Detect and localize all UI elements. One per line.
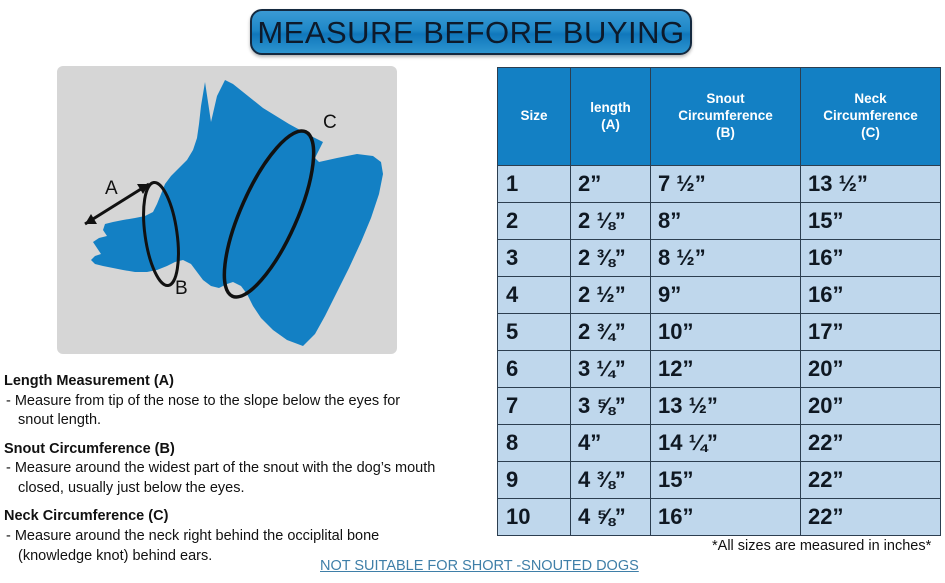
cell-neck: 20” bbox=[801, 388, 941, 425]
cell-snout: 14 ¼” bbox=[651, 425, 801, 462]
column-header-length: length (A) bbox=[571, 68, 651, 166]
cell-length: 4 ⅜” bbox=[571, 462, 651, 499]
table-row: 84”14 ¼”22” bbox=[498, 425, 941, 462]
column-header-neck-line3: (C) bbox=[861, 125, 880, 140]
cell-snout: 7 ½” bbox=[651, 166, 801, 203]
instruction-heading-snout: Snout Circumference (B) bbox=[4, 440, 489, 460]
cell-neck: 16” bbox=[801, 240, 941, 277]
cell-snout: 10” bbox=[651, 314, 801, 351]
dog-head-silhouette bbox=[91, 80, 383, 346]
dog-head-illustration: A B C bbox=[57, 66, 397, 354]
column-header-neck-line1: Neck bbox=[854, 91, 886, 106]
dog-head-diagram-panel: A B C bbox=[57, 66, 397, 354]
measurement-instructions: Length Measurement (A) - Measure from ti… bbox=[4, 372, 489, 575]
column-header-neck-line2: Circumference bbox=[823, 108, 918, 123]
cell-size: 6 bbox=[498, 351, 571, 388]
title-banner: MEASURE BEFORE BUYING bbox=[250, 9, 692, 55]
cell-length: 2 ⅜” bbox=[571, 240, 651, 277]
column-header-size: Size bbox=[498, 68, 571, 166]
cell-size: 8 bbox=[498, 425, 571, 462]
cell-neck: 16” bbox=[801, 277, 941, 314]
cell-length: 2 ⅛” bbox=[571, 203, 651, 240]
cell-neck: 13 ½” bbox=[801, 166, 941, 203]
label-b: B bbox=[175, 278, 188, 299]
table-header-row: Size length (A) Snout Circumference (B) … bbox=[498, 68, 941, 166]
cell-length: 2” bbox=[571, 166, 651, 203]
column-header-snout-line1: Snout bbox=[706, 91, 744, 106]
cell-size: 5 bbox=[498, 314, 571, 351]
cell-length: 2 ¾” bbox=[571, 314, 651, 351]
cell-snout: 8” bbox=[651, 203, 801, 240]
instruction-neck-line1: - Measure around the neck right behind t… bbox=[6, 528, 379, 544]
cell-neck: 22” bbox=[801, 462, 941, 499]
label-c: C bbox=[323, 112, 337, 133]
instruction-heading-neck: Neck Circumference (C) bbox=[4, 507, 489, 527]
cell-size: 10 bbox=[498, 499, 571, 536]
cell-snout: 13 ½” bbox=[651, 388, 801, 425]
cell-length: 3 ¼” bbox=[571, 351, 651, 388]
column-header-snout-line2: Circumference bbox=[678, 108, 773, 123]
cell-neck: 20” bbox=[801, 351, 941, 388]
instruction-snout-line1: - Measure around the widest part of the … bbox=[6, 460, 435, 476]
instruction-body-length: - Measure from tip of the nose to the sl… bbox=[4, 392, 489, 431]
cell-neck: 22” bbox=[801, 499, 941, 536]
instruction-length-line2: snout length. bbox=[6, 411, 489, 431]
instruction-group-snout: Snout Circumference (B) - Measure around… bbox=[4, 440, 489, 499]
cell-length: 4 ⅝” bbox=[571, 499, 651, 536]
column-header-length-line2: (A) bbox=[601, 117, 620, 132]
cell-length: 4” bbox=[571, 425, 651, 462]
size-chart-table: Size length (A) Snout Circumference (B) … bbox=[497, 67, 941, 536]
instruction-group-length: Length Measurement (A) - Measure from ti… bbox=[4, 372, 489, 431]
table-row: 12”7 ½”13 ½” bbox=[498, 166, 941, 203]
instruction-heading-length: Length Measurement (A) bbox=[4, 372, 489, 392]
cell-size: 3 bbox=[498, 240, 571, 277]
page-title: MEASURE BEFORE BUYING bbox=[257, 17, 684, 48]
column-header-snout-line3: (B) bbox=[716, 125, 735, 140]
size-chart-body: 12”7 ½”13 ½”22 ⅛”8”15”32 ⅜”8 ½”16”42 ½”9… bbox=[498, 166, 941, 536]
column-header-length-line1: length bbox=[590, 100, 631, 115]
size-chart-header: Size length (A) Snout Circumference (B) … bbox=[498, 68, 941, 166]
table-row: 104 ⅝”16”22” bbox=[498, 499, 941, 536]
cell-length: 2 ½” bbox=[571, 277, 651, 314]
table-row: 63 ¼”12”20” bbox=[498, 351, 941, 388]
table-row: 73 ⅝”13 ½”20” bbox=[498, 388, 941, 425]
cell-snout: 8 ½” bbox=[651, 240, 801, 277]
column-header-size-label: Size bbox=[520, 108, 547, 123]
table-row: 52 ¾”10”17” bbox=[498, 314, 941, 351]
cell-neck: 15” bbox=[801, 203, 941, 240]
cell-size: 4 bbox=[498, 277, 571, 314]
cell-snout: 9” bbox=[651, 277, 801, 314]
instruction-body-snout: - Measure around the widest part of the … bbox=[4, 459, 489, 498]
cell-size: 2 bbox=[498, 203, 571, 240]
cell-neck: 17” bbox=[801, 314, 941, 351]
cell-neck: 22” bbox=[801, 425, 941, 462]
label-a: A bbox=[105, 178, 118, 199]
cell-snout: 16” bbox=[651, 499, 801, 536]
table-row: 32 ⅜”8 ½”16” bbox=[498, 240, 941, 277]
cell-size: 7 bbox=[498, 388, 571, 425]
cell-size: 9 bbox=[498, 462, 571, 499]
cell-length: 3 ⅝” bbox=[571, 388, 651, 425]
cell-snout: 12” bbox=[651, 351, 801, 388]
column-header-snout: Snout Circumference (B) bbox=[651, 68, 801, 166]
table-row: 22 ⅛”8”15” bbox=[498, 203, 941, 240]
cell-size: 1 bbox=[498, 166, 571, 203]
column-header-neck: Neck Circumference (C) bbox=[801, 68, 941, 166]
table-row: 94 ⅜”15”22” bbox=[498, 462, 941, 499]
cell-snout: 15” bbox=[651, 462, 801, 499]
table-row: 42 ½”9”16” bbox=[498, 277, 941, 314]
instruction-length-line1: - Measure from tip of the nose to the sl… bbox=[6, 393, 400, 409]
instruction-snout-line2: closed, usually just below the eyes. bbox=[6, 479, 489, 499]
inches-note: *All sizes are measured in inches* bbox=[712, 538, 931, 554]
not-suitable-note: NOT SUITABLE FOR SHORT -SNOUTED DOGS bbox=[320, 558, 639, 574]
